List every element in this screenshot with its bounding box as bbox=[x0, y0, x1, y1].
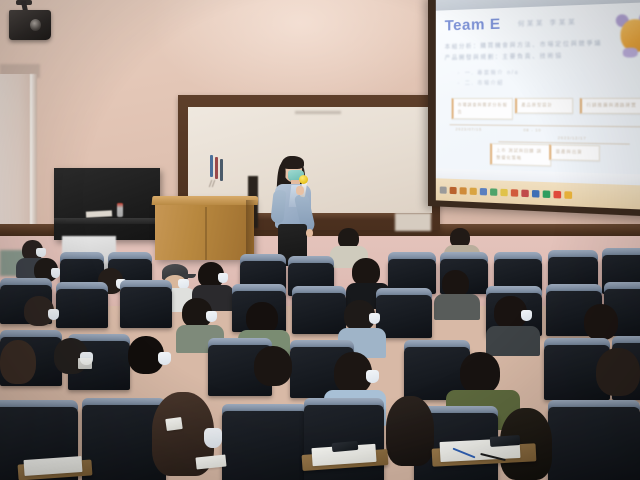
taskbar-icon-5[interactable] bbox=[490, 188, 497, 195]
person-face-mask bbox=[48, 309, 59, 320]
person-shoulders bbox=[434, 294, 480, 320]
timeline-date: 2023/12/17 bbox=[558, 136, 587, 141]
av-cabinet bbox=[54, 168, 160, 240]
timeline-box: 市場調查與需求分析報告 bbox=[452, 98, 513, 120]
projected-slide: Team E 何某某 李某某 本組分析：購買機會與方法、市場定位與競爭議 产品開… bbox=[436, 0, 640, 210]
taskbar-icon-6[interactable] bbox=[500, 188, 507, 196]
person-face-mask bbox=[366, 370, 379, 383]
whiteboard-marker bbox=[215, 157, 218, 179]
whiteboard-scuff bbox=[295, 111, 341, 114]
presenter-hand-lowered bbox=[306, 229, 313, 237]
taskbar-icon-10[interactable] bbox=[543, 190, 551, 198]
person-face-mask bbox=[206, 311, 217, 322]
lectern-top-surface bbox=[152, 196, 259, 205]
timeline-box: 量產與出貨 bbox=[549, 144, 600, 161]
mascot-foot bbox=[623, 48, 638, 58]
lectern-seam bbox=[205, 207, 207, 260]
auditorium-seat[interactable] bbox=[222, 404, 308, 480]
seat-back bbox=[222, 411, 308, 480]
person-face-mask bbox=[204, 428, 222, 448]
mascot-icon bbox=[614, 10, 640, 59]
microphone-icon bbox=[299, 175, 308, 184]
seat-back bbox=[292, 293, 346, 334]
slide-timeline-diagram: 市場調查與需求分析報告 產品原型設計 行銷推廣與通路建置 上市 測試與回饋 調整… bbox=[446, 96, 640, 168]
auditorium-seat[interactable] bbox=[548, 400, 640, 480]
projection-screen-frame: Team E 何某某 李某某 本組分析：購買機會與方法、市場定位與競爭議 产品開… bbox=[428, 0, 640, 217]
person-face-mask bbox=[521, 310, 532, 321]
taskbar-icon-8[interactable] bbox=[521, 189, 528, 197]
timeline-date: 2023/07/15 bbox=[456, 127, 482, 131]
person-shoulders bbox=[486, 326, 540, 356]
whiteboard-marker bbox=[210, 155, 213, 177]
timeline-date: 08 - 10 bbox=[523, 128, 541, 132]
auditorium-seat[interactable] bbox=[56, 282, 108, 328]
auditorium-seat[interactable] bbox=[292, 286, 346, 334]
person-head bbox=[460, 352, 500, 394]
lectern-shadow bbox=[246, 200, 258, 260]
person-face-mask bbox=[158, 352, 171, 365]
person-head bbox=[352, 258, 380, 286]
person-face-mask bbox=[36, 248, 46, 257]
presenter bbox=[262, 150, 328, 266]
person-head bbox=[0, 340, 36, 384]
seat-back bbox=[548, 407, 640, 480]
slide-title: Team E bbox=[445, 17, 501, 34]
auditorium-seat[interactable] bbox=[120, 280, 172, 328]
taskbar-icon-2[interactable] bbox=[460, 187, 467, 194]
person-head bbox=[442, 270, 469, 297]
person-head bbox=[584, 304, 618, 340]
slide-bullet: 二. 市場介紹 bbox=[458, 77, 640, 89]
wall-panel-right bbox=[395, 213, 431, 231]
timeline-box: 產品原型設計 bbox=[515, 98, 573, 114]
speaker-cone bbox=[30, 19, 41, 31]
person-head bbox=[596, 348, 640, 396]
taskbar-icon-1[interactable] bbox=[450, 186, 457, 193]
slide-bullet-list: 一. 專案簡介 n/a 二. 市場介紹 bbox=[445, 66, 640, 90]
taskbar-icon-3[interactable] bbox=[470, 187, 477, 194]
person-head bbox=[254, 346, 292, 386]
cabinet-ledge bbox=[54, 218, 160, 224]
taskbar-icon-7[interactable] bbox=[511, 189, 518, 197]
timeline-box: 行銷推廣與通路建置 bbox=[580, 98, 640, 114]
taskbar-icon-9[interactable] bbox=[532, 189, 539, 197]
lecture-hall-photo: // Team E 何某某 李某某 本組分析：購買機會與方法、市場定位與競爭議 … bbox=[0, 0, 640, 480]
cup bbox=[78, 358, 92, 369]
paper-scrap bbox=[165, 417, 183, 431]
person-head bbox=[386, 396, 434, 466]
water-bottle bbox=[117, 203, 123, 217]
person-face-mask bbox=[218, 273, 228, 283]
person-face-mask bbox=[51, 268, 60, 278]
seat-back bbox=[120, 287, 172, 328]
taskbar-icon-4[interactable] bbox=[480, 187, 487, 194]
auditorium-seat[interactable] bbox=[376, 288, 432, 338]
taskbar-icon-12[interactable] bbox=[564, 191, 572, 199]
timeline-box: 上市 測試與回饋 調整優化策略 bbox=[490, 143, 551, 166]
taskbar-icon-11[interactable] bbox=[553, 190, 561, 198]
person-face-mask bbox=[369, 313, 380, 324]
smartphone bbox=[490, 435, 521, 447]
taskbar-icon-start[interactable] bbox=[440, 186, 447, 193]
presenter-hand-holding-mic bbox=[296, 186, 304, 195]
slide-authors: 何某某 李某某 bbox=[518, 17, 578, 28]
whiteboard-scribble: // bbox=[209, 178, 223, 189]
seat-back bbox=[56, 289, 108, 328]
